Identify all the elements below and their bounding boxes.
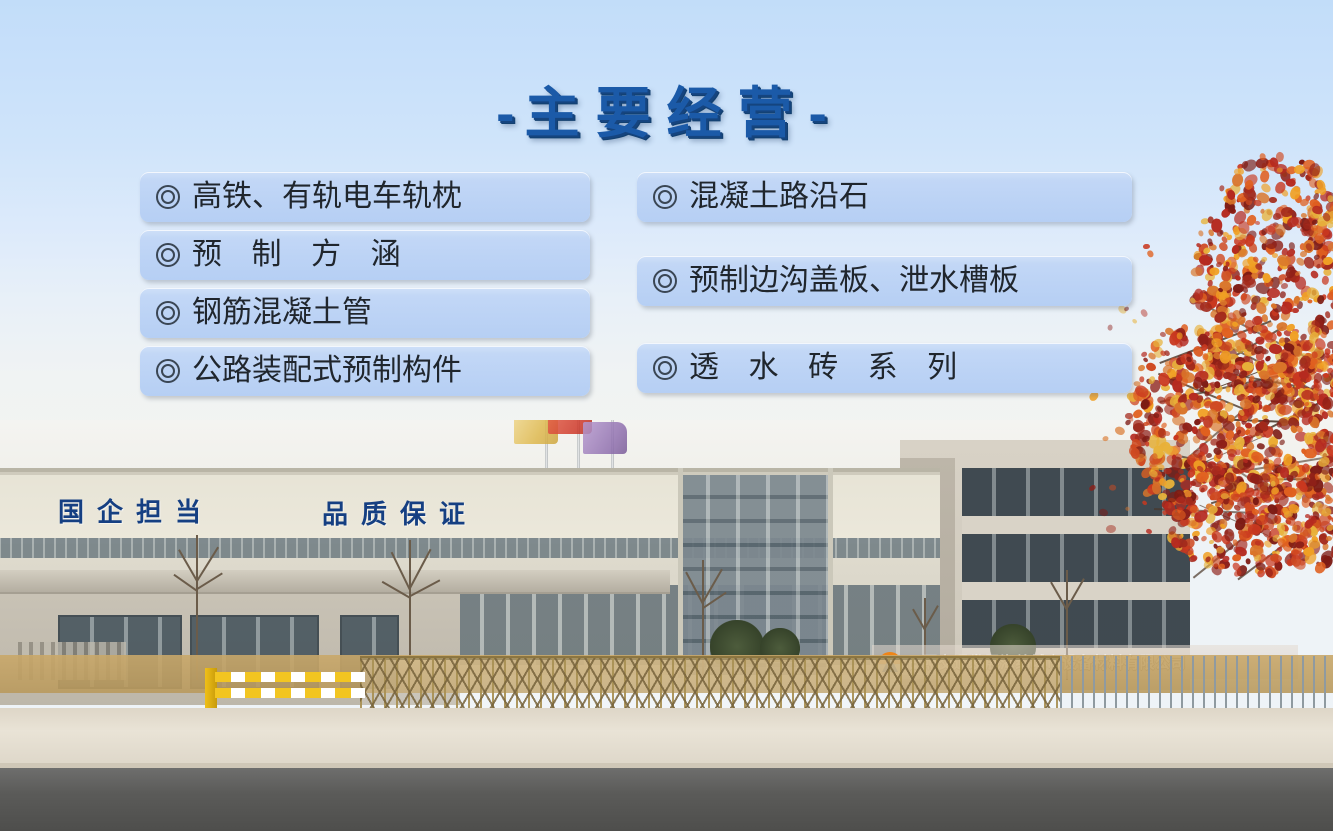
service-pill-right-1[interactable]: 混凝土路沿石 (637, 172, 1132, 222)
metal-picket-fence (1060, 656, 1333, 710)
page-title: -主要经营- (0, 68, 1333, 148)
double-circle-icon (653, 185, 677, 209)
gatehouse-canopy (0, 570, 670, 594)
title-dash-right: - (809, 82, 837, 144)
service-pill-left-3[interactable]: 钢筋混凝土管 (140, 288, 590, 338)
banner-image: 国企担当 品质保证 (0, 0, 1333, 831)
service-pill-label: 透 水 砖 系 列 (689, 353, 967, 383)
barrier-gate-arm-upper (215, 672, 365, 682)
double-circle-icon (156, 185, 180, 209)
service-pill-label: 公路装配式预制构件 (192, 356, 462, 386)
service-pill-right-2[interactable]: 预制边沟盖板、泄水槽板 (637, 256, 1132, 306)
title-dash-left: - (496, 82, 524, 144)
double-circle-icon (653, 356, 677, 380)
concrete-apron (0, 708, 1333, 765)
service-pill-left-4[interactable]: 公路装配式预制构件 (140, 346, 590, 396)
service-pill-right-3[interactable]: 透 水 砖 系 列 (637, 343, 1132, 393)
flag-purple (583, 422, 627, 454)
retractable-gate (360, 658, 1060, 712)
barrier-gate-arm-lower (215, 688, 365, 698)
double-circle-icon (653, 269, 677, 293)
asphalt-road (0, 768, 1333, 831)
factory-mullion-2 (828, 468, 833, 678)
factory-photograph: 国企担当 品质保证 (0, 420, 1333, 831)
service-pill-label: 预制边沟盖板、泄水槽板 (689, 266, 1019, 296)
double-circle-icon (156, 301, 180, 325)
wall-slogan-right: 品质保证 (322, 494, 478, 531)
service-pill-label: 预 制 方 涵 (192, 240, 411, 270)
service-pill-label: 混凝土路沿石 (689, 182, 869, 212)
service-pill-label: 钢筋混凝土管 (192, 298, 372, 328)
service-pill-label: 高铁、有轨电车轨枕 (192, 182, 462, 212)
wall-slogan-left: 国企担当 (58, 492, 214, 529)
service-pill-left-2[interactable]: 预 制 方 涵 (140, 230, 590, 280)
title-text: 主要经营 (524, 82, 808, 144)
office-window-row-1 (962, 468, 1190, 516)
office-spandrel-1 (962, 516, 1190, 534)
double-circle-icon (156, 359, 180, 383)
service-pill-left-1[interactable]: 高铁、有轨电车轨枕 (140, 172, 590, 222)
double-circle-icon (156, 243, 180, 267)
